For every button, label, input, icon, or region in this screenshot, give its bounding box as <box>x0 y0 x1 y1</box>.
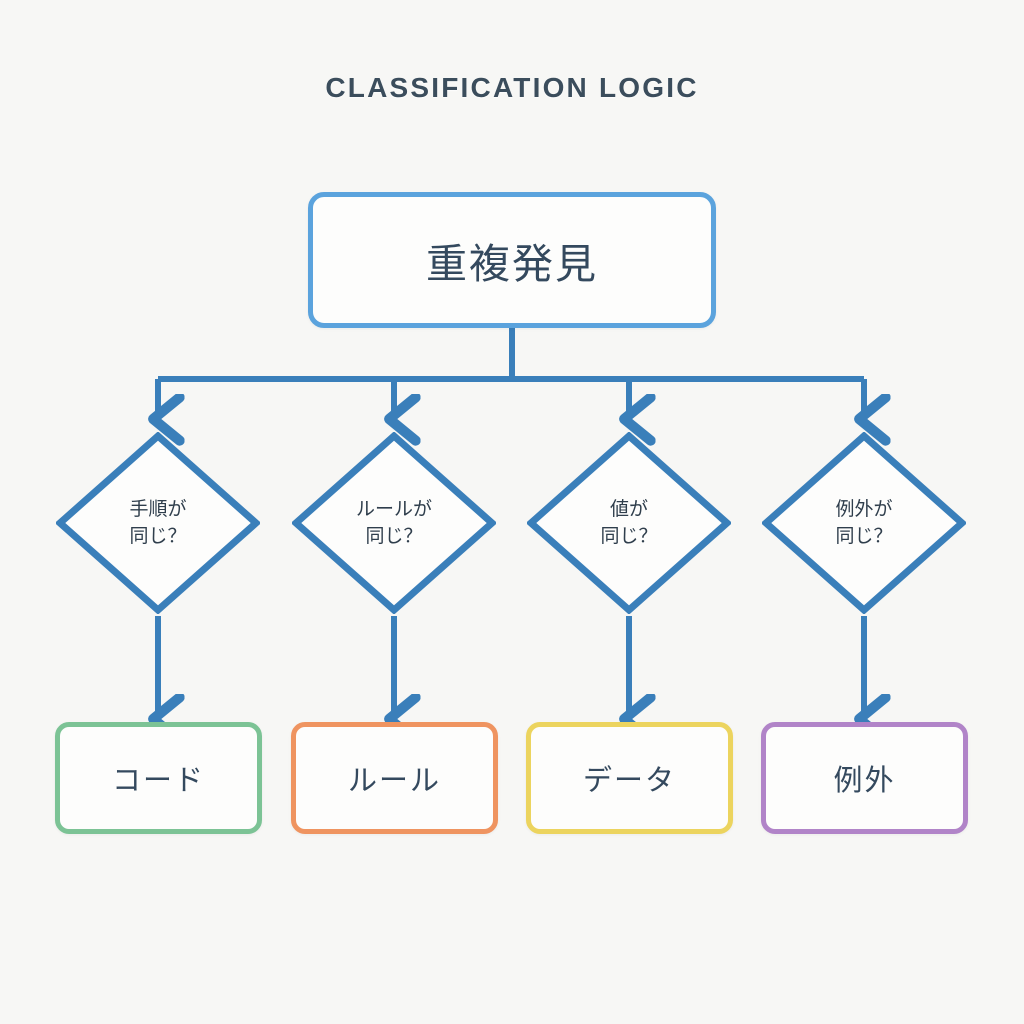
node-result-1[interactable]: コード <box>55 722 262 834</box>
node-decision-4[interactable]: 例外が 同じ？ <box>762 432 966 614</box>
node-decision-3[interactable]: 値が 同じ？ <box>527 432 731 614</box>
diamond-shape-icon <box>292 432 496 614</box>
node-result-3-label: データ <box>583 757 676 799</box>
node-result-2-label: ルール <box>348 757 441 799</box>
node-result-4[interactable]: 例外 <box>761 722 968 834</box>
node-result-2[interactable]: ルール <box>291 722 498 834</box>
node-root[interactable]: 重複発見 <box>308 192 716 328</box>
node-root-label: 重複発見 <box>426 230 598 290</box>
diamond-shape-icon <box>527 432 731 614</box>
diagram-canvas: CLASSIFICATION LOGIC 重複発見 <box>0 0 1024 1024</box>
diamond-shape-icon <box>762 432 966 614</box>
node-result-1-label: コード <box>112 757 205 799</box>
node-result-4-label: 例外 <box>833 757 895 799</box>
node-result-3[interactable]: データ <box>526 722 733 834</box>
node-decision-1[interactable]: 手順が 同じ？ <box>56 432 260 614</box>
diamond-shape-icon <box>56 432 260 614</box>
node-decision-2[interactable]: ルールが 同じ？ <box>292 432 496 614</box>
